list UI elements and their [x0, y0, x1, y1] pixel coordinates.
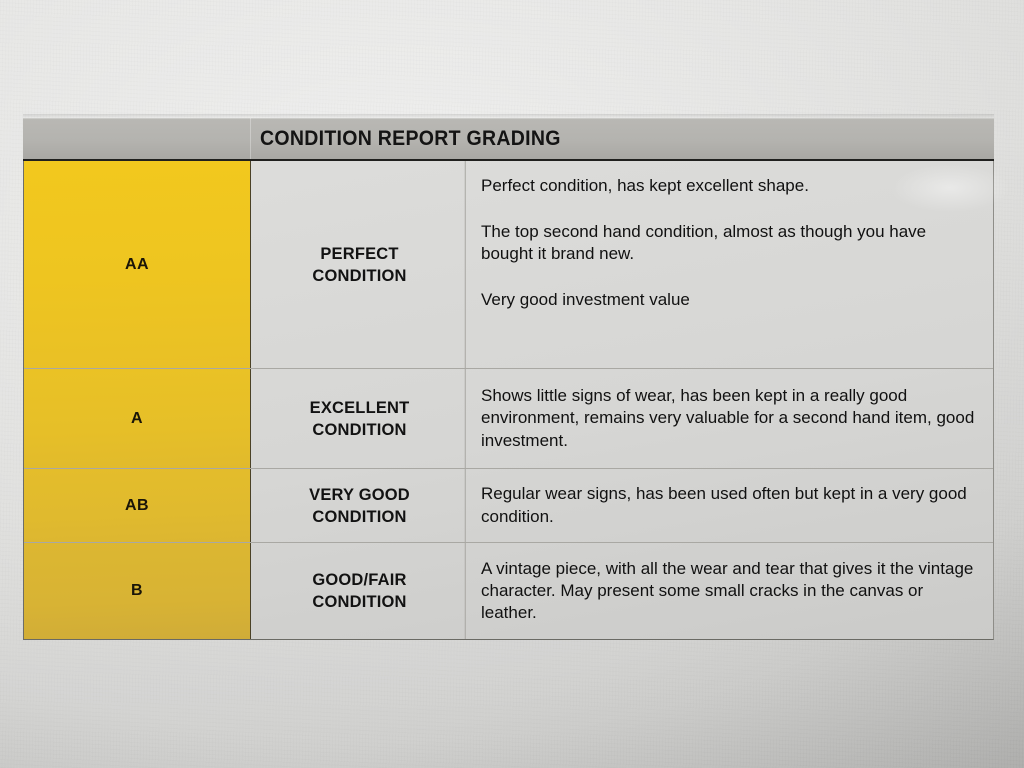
condition-name-line-1: PERFECT — [320, 243, 398, 265]
grade-label: AB — [125, 497, 149, 515]
condition-name-cell: PERFECT CONDITION — [254, 161, 465, 368]
table-row: A EXCELLENT CONDITION Shows little signs… — [24, 369, 993, 469]
grade-cell: A — [24, 369, 251, 468]
description-cell: A vintage piece, with all the wear and t… — [469, 543, 993, 639]
description-paragraph: Regular wear signs, has been used often … — [481, 483, 980, 527]
photo-of-printed-sheet: CONDITION REPORT GRADING AA PERFECT COND… — [0, 0, 1024, 768]
table-body: AA PERFECT CONDITION Perfect condition, … — [23, 161, 994, 640]
condition-name-line-1: EXCELLENT — [310, 397, 410, 419]
grade-cell: B — [24, 543, 251, 639]
description-paragraph: A vintage piece, with all the wear and t… — [481, 558, 980, 624]
description-paragraph: Very good investment value — [481, 289, 980, 311]
condition-name-line-2: CONDITION — [312, 419, 406, 441]
condition-name-line-2: CONDITION — [312, 591, 406, 613]
table-header-band: CONDITION REPORT GRADING — [23, 118, 994, 161]
table-row: AB VERY GOOD CONDITION Regular wear sign… — [24, 469, 993, 543]
description-paragraph: Shows little signs of wear, has been kep… — [481, 385, 980, 451]
table-row: AA PERFECT CONDITION Perfect condition, … — [24, 161, 993, 369]
description-cell: Regular wear signs, has been used often … — [469, 469, 993, 542]
condition-name-line-2: CONDITION — [312, 265, 406, 287]
grade-label: A — [131, 410, 143, 428]
condition-name-line-2: CONDITION — [312, 506, 406, 528]
page-title: CONDITION REPORT GRADING — [260, 127, 561, 151]
header-column-divider — [250, 118, 251, 159]
condition-report-grading-table: CONDITION REPORT GRADING AA PERFECT COND… — [23, 118, 994, 639]
grade-cell: AA — [24, 161, 251, 368]
condition-name-cell: EXCELLENT CONDITION — [254, 369, 465, 468]
grade-cell: AB — [24, 469, 251, 542]
condition-name-cell: VERY GOOD CONDITION — [254, 469, 465, 542]
grade-label: B — [131, 582, 143, 600]
description-paragraph: Perfect condition, has kept excellent sh… — [481, 175, 980, 197]
condition-name-cell: GOOD/FAIR CONDITION — [254, 543, 465, 639]
condition-name-line-1: VERY GOOD — [309, 484, 410, 506]
description-cell: Shows little signs of wear, has been kep… — [469, 369, 993, 468]
condition-name-line-1: GOOD/FAIR — [312, 569, 406, 591]
description-paragraph: The top second hand condition, almost as… — [481, 221, 980, 265]
table-row: B GOOD/FAIR CONDITION A vintage piece, w… — [24, 543, 993, 639]
grade-label: AA — [125, 256, 149, 274]
description-cell: Perfect condition, has kept excellent sh… — [469, 161, 993, 368]
